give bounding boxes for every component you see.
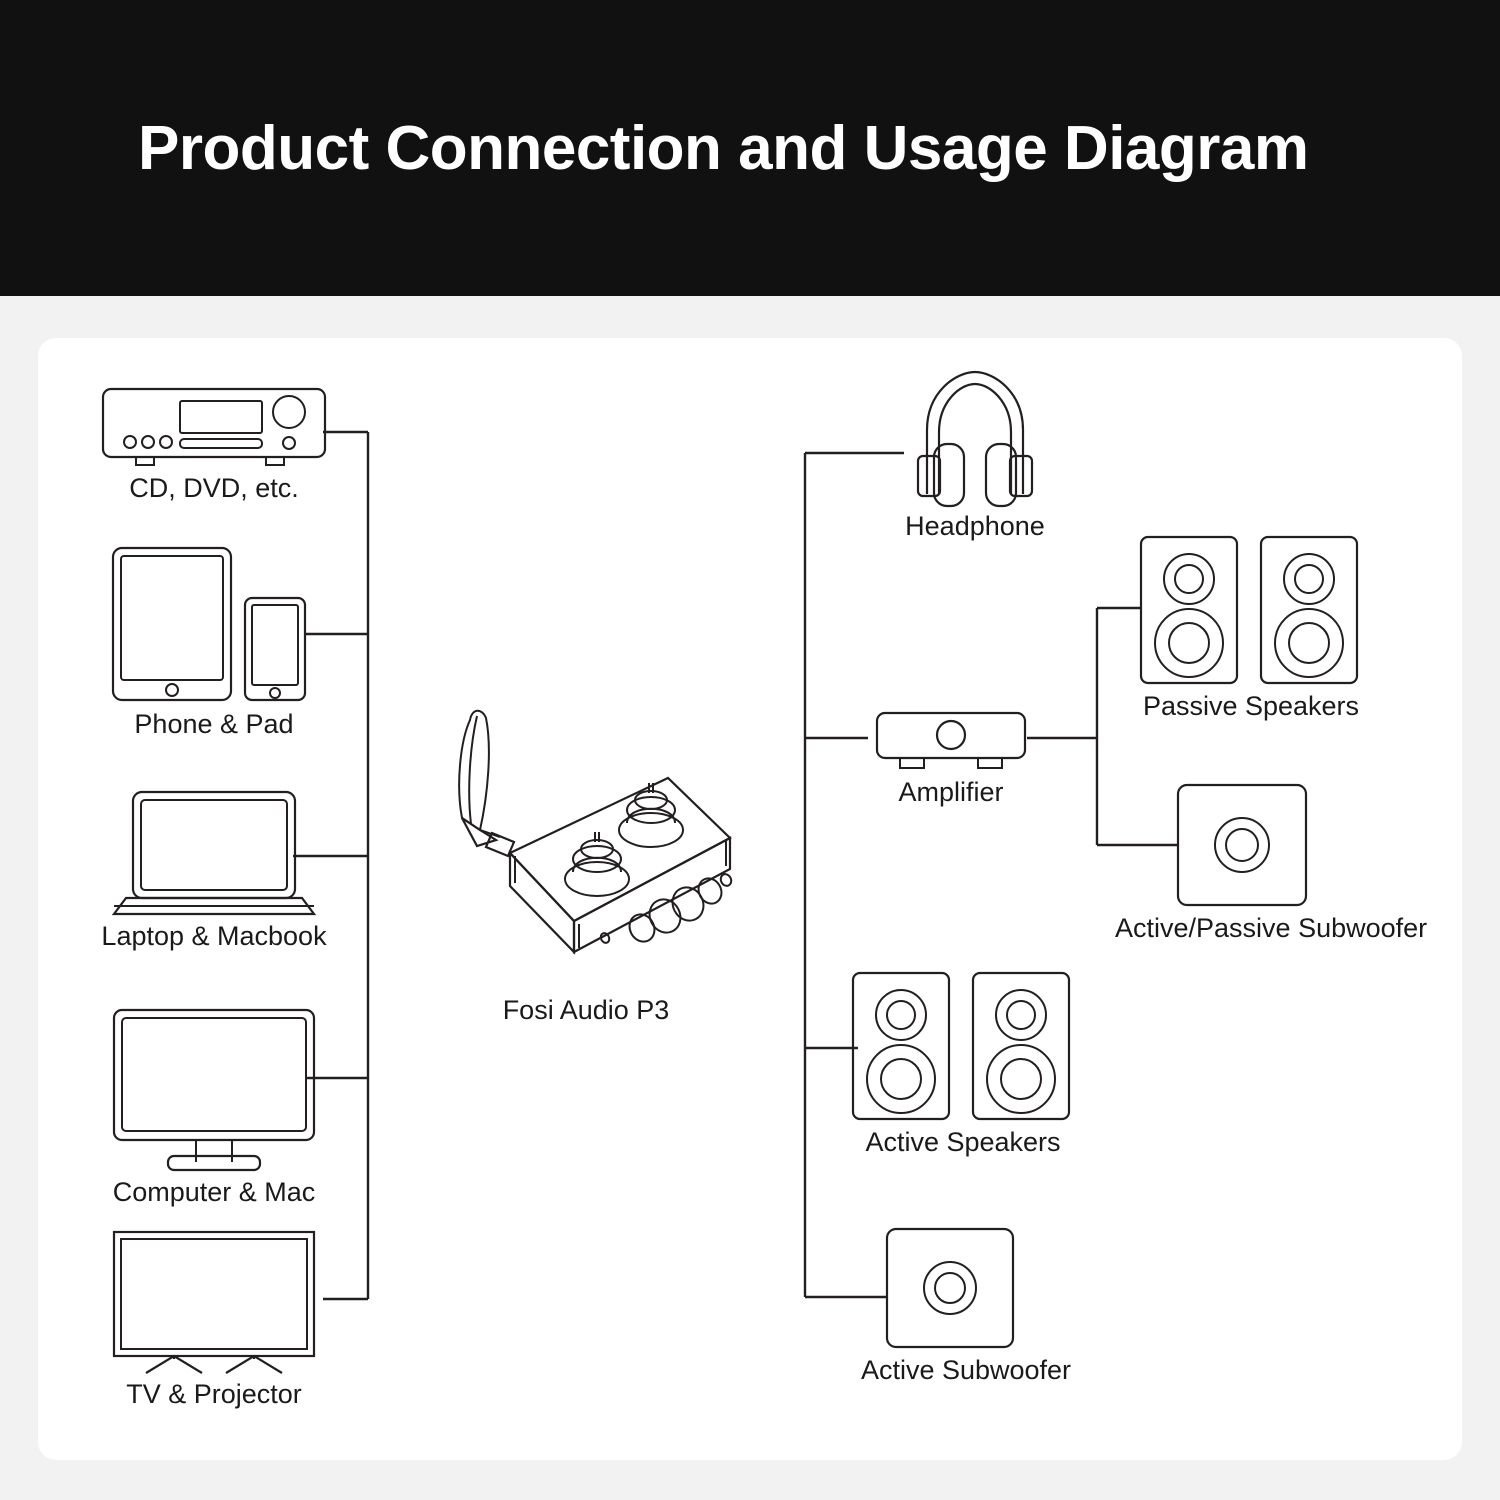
node-label: Phone & Pad [100,710,328,740]
phone-tablet-icon [100,544,328,704]
node-passive-speakers[interactable]: Passive Speakers [1138,534,1364,722]
page-header: Product Connection and Usage Diagram [0,0,1500,296]
subwoofer-icon [1175,782,1339,908]
node-label: Active Speakers [850,1128,1076,1158]
page-root: Product Connection and Usage Diagram [0,0,1500,1500]
node-active-subwoofer[interactable]: Active Subwoofer [884,1226,1048,1386]
output-devices-bus [805,453,904,1297]
diagram-card: CD, DVD, etc. Phone & Pad [38,338,1462,1460]
node-amplifier[interactable]: Amplifier [874,710,1028,808]
node-label: Laptop & Macbook [100,922,328,952]
desktop-monitor-icon [100,1006,328,1172]
amplifier-box-icon [874,710,1028,772]
node-headphone[interactable]: Headphone [882,366,1068,542]
node-desktop-computer[interactable]: Computer & Mac [100,1006,328,1208]
node-label: Passive Speakers [1078,692,1424,722]
speaker-pair-icon [850,970,1076,1122]
node-label: TV & Projector [100,1380,328,1410]
cd-dvd-player-icon [100,386,328,468]
headphone-icon [882,366,1068,506]
page-title: Product Connection and Usage Diagram [138,113,1309,184]
node-active-speakers[interactable]: Active Speakers [850,970,1076,1158]
amplifier-isometric-icon [436,690,736,990]
node-label: Headphone [882,512,1068,542]
node-active-passive-subwoofer[interactable]: Active/Passive Subwoofer [1175,782,1339,944]
subwoofer-icon [884,1226,1048,1350]
node-laptop[interactable]: Laptop & Macbook [100,788,328,952]
node-cd-dvd-player[interactable]: CD, DVD, etc. [100,386,328,504]
node-label: Fosi Audio P3 [436,996,736,1026]
node-label: CD, DVD, etc. [100,474,328,504]
node-label: Active/Passive Subwoofer [1115,914,1399,944]
node-label: Amplifier [874,778,1028,808]
speaker-pair-icon [1138,534,1364,686]
node-label: Computer & Mac [100,1178,328,1208]
tv-icon [100,1228,328,1374]
node-phone-pad[interactable]: Phone & Pad [100,544,328,740]
node-tv-projector[interactable]: TV & Projector [100,1228,328,1410]
laptop-icon [100,788,328,916]
node-label: Active Subwoofer [824,1356,1108,1386]
node-fosi-audio-p3[interactable]: Fosi Audio P3 [436,690,736,1026]
